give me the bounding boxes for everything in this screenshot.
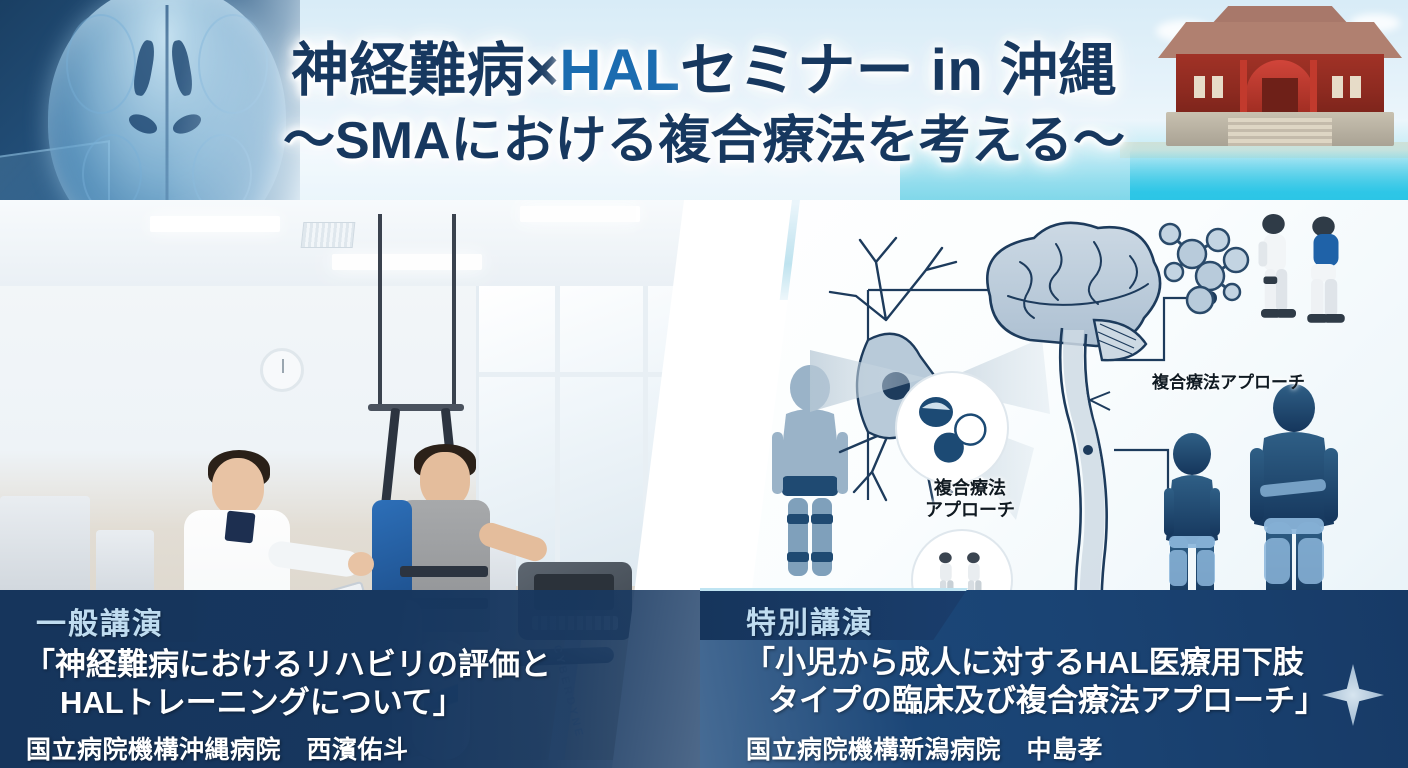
adult-silhouette-icon <box>1250 384 1338 604</box>
capsule-pill-icon <box>896 372 1008 484</box>
poster-subtitle: 〜SMAにおける複合療法を考える〜 <box>0 113 1408 170</box>
ceiling-light <box>332 254 482 270</box>
ceiling-light <box>150 216 280 232</box>
right-session-banner: 特別講演 「小児から成人に対するHAL医療用下肢タイプの臨床及び複合療法アプロー… <box>700 590 1408 768</box>
left-session-affiliation: 国立病院機構沖縄病院 西濱佑斗 <box>26 730 409 766</box>
label-line1: 複合療法 <box>934 478 1006 498</box>
therapist-head <box>212 458 264 516</box>
left-session-talk-title: 「神経難病におけるリハビリの評価とHALトレーニングについて」 <box>24 646 684 723</box>
seminar-poster: 神経難病×HALセミナー in 沖縄 〜SMAにおける複合療法を考える〜 <box>0 0 1408 768</box>
child-silhouette-icon <box>1164 433 1220 602</box>
molecule-icon <box>1160 224 1248 313</box>
exoskeleton-walker-pair <box>1259 214 1345 323</box>
nerve-node <box>1083 445 1093 455</box>
right-session-affiliation: 国立病院機構新潟病院 中島孝 <box>746 730 1103 766</box>
label-combination-therapy-right: 複合療法アプローチ <box>1152 368 1305 393</box>
talk-title-line1: 「神経難病におけるリハビリの評価と <box>24 647 551 682</box>
right-session-tab-label: 特別講演 <box>746 598 874 642</box>
title-hal-accent: HAL <box>559 38 680 103</box>
harness-strap <box>400 566 488 577</box>
right-session-talk-title: 「小児から成人に対するHAL医療用下肢タイプの臨床及び複合療法アプローチ」 <box>744 644 1404 721</box>
sling-rope <box>452 214 456 404</box>
title-part1: 神経難病× <box>291 38 559 103</box>
ceiling-vent <box>301 222 356 248</box>
title-part2: セミナー in 沖縄 <box>680 38 1117 103</box>
talk-title-line2: タイプの臨床及び複合療法アプローチ」 <box>744 682 1404 720</box>
walker-standing <box>1259 214 1297 318</box>
talk-title-line1: 「小児から成人に対するHAL医療用下肢 <box>744 645 1304 680</box>
therapist-hand <box>348 552 374 576</box>
poster-title-line1: 神経難病×HALセミナー in 沖縄 <box>0 40 1408 103</box>
left-session-banner: 一般講演 「神経難病におけるリハビリの評価とHALトレーニングについて」 国立病… <box>0 590 700 768</box>
walker-stepping <box>1307 217 1345 323</box>
window-mullion <box>555 286 560 586</box>
spinal-nerve <box>1090 392 1110 410</box>
therapist-collar <box>225 511 256 544</box>
sling-rope <box>378 214 382 404</box>
poster-title-block: 神経難病×HALセミナー in 沖縄 〜SMAにおける複合療法を考える〜 <box>0 40 1408 170</box>
label-combination-therapy-center: 複合療法アプローチ <box>910 478 1030 522</box>
left-session-tab-label: 一般講演 <box>36 599 164 643</box>
wall-clock-icon <box>260 348 304 392</box>
label-line2: アプローチ <box>925 500 1015 520</box>
ceiling-light <box>520 206 640 222</box>
talk-title-line2: HALトレーニングについて」 <box>24 684 684 722</box>
